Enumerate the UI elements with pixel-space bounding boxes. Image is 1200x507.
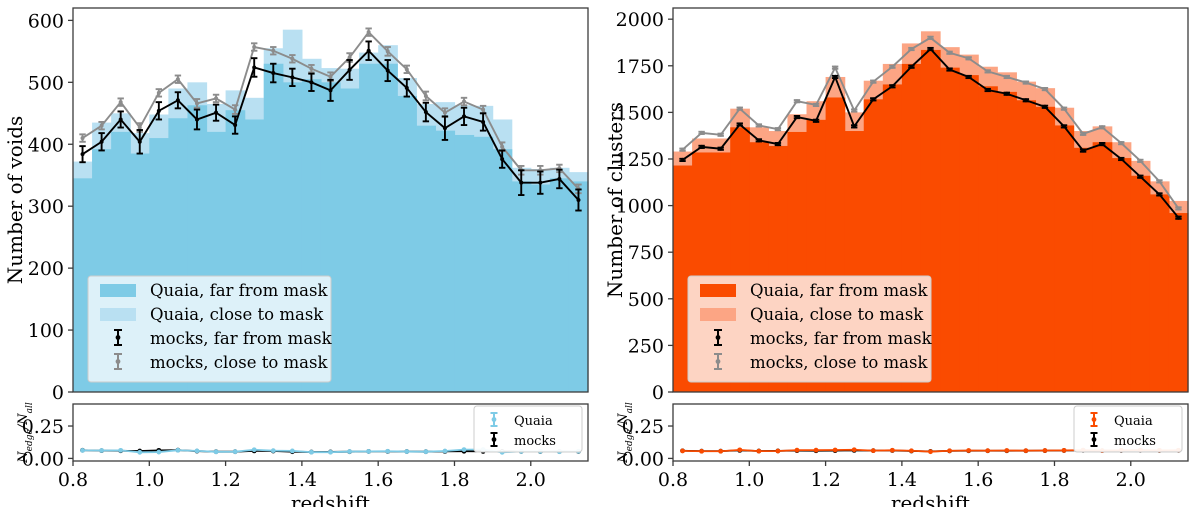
data-point bbox=[833, 66, 837, 70]
legend-label: Quaia, far from mask bbox=[150, 281, 328, 300]
data-point bbox=[1024, 98, 1028, 102]
ratio-point bbox=[1062, 448, 1067, 453]
x-tick-label: 1.6 bbox=[363, 469, 393, 491]
main-legend: Quaia, far from maskQuaia, close to mask… bbox=[688, 276, 933, 382]
data-point bbox=[852, 124, 856, 128]
data-point bbox=[909, 65, 913, 69]
ratio-point bbox=[1023, 448, 1028, 453]
clusters-svg: 025050075010001250150017502000Number of … bbox=[600, 0, 1200, 507]
ratio-point bbox=[290, 448, 295, 453]
legend-label: mocks, close to mask bbox=[150, 353, 328, 372]
data-point bbox=[233, 123, 237, 127]
ratio-legend-label: Quaia bbox=[1114, 414, 1153, 429]
data-point bbox=[119, 117, 123, 121]
bar-far-from-mask bbox=[359, 64, 379, 392]
x-tick-label: 1.0 bbox=[134, 469, 164, 491]
ratio-point bbox=[776, 449, 781, 454]
data-point bbox=[424, 94, 428, 98]
data-point bbox=[367, 49, 371, 53]
data-point bbox=[929, 47, 933, 51]
data-point bbox=[195, 101, 199, 105]
ratio-point bbox=[852, 447, 857, 452]
legend-label: Quaia, close to mask bbox=[150, 305, 324, 324]
data-point bbox=[1100, 125, 1104, 129]
legend-label: mocks, far from mask bbox=[150, 329, 333, 348]
ratio-point bbox=[928, 449, 933, 454]
ratio-point bbox=[814, 448, 819, 453]
data-point bbox=[329, 88, 333, 92]
bar-far-from-mask bbox=[1035, 107, 1055, 392]
y-tick-label: 1750 bbox=[616, 56, 664, 78]
data-point bbox=[986, 88, 990, 92]
data-point bbox=[138, 126, 142, 130]
data-point bbox=[776, 127, 780, 131]
data-point bbox=[100, 140, 104, 144]
data-point bbox=[290, 75, 294, 79]
ratio-point bbox=[966, 448, 971, 453]
data-point bbox=[681, 158, 685, 162]
data-point bbox=[1176, 206, 1180, 210]
y-tick-label: 500 bbox=[28, 72, 64, 94]
data-point bbox=[871, 97, 875, 101]
data-point bbox=[214, 96, 218, 100]
y-tick-label: 250 bbox=[628, 335, 664, 357]
y-tick-label: 750 bbox=[628, 242, 664, 264]
data-point bbox=[1043, 87, 1047, 91]
bar-far-from-mask bbox=[531, 185, 551, 392]
data-point bbox=[367, 30, 371, 34]
x-axis: 0.81.01.21.41.61.82.0 bbox=[58, 461, 546, 491]
data-point bbox=[81, 152, 85, 156]
figure-container: 0100200300400500600Number of voidsQuaia,… bbox=[0, 0, 1200, 507]
ratio-point bbox=[404, 449, 409, 454]
ratio-point bbox=[271, 448, 276, 453]
ratio-point bbox=[309, 450, 314, 455]
x-tick-label: 1.4 bbox=[287, 469, 317, 491]
data-point bbox=[986, 69, 990, 73]
data-point bbox=[1119, 141, 1123, 145]
x-axis-title: redshift bbox=[291, 491, 370, 507]
ratio-point bbox=[137, 450, 142, 455]
ratio-point bbox=[737, 447, 742, 452]
data-point bbox=[157, 109, 161, 113]
data-point bbox=[176, 77, 180, 81]
main-legend: Quaia, far from maskQuaia, close to mask… bbox=[88, 276, 333, 382]
data-point bbox=[1138, 175, 1142, 179]
data-point bbox=[138, 140, 142, 144]
ratio-point bbox=[833, 448, 838, 453]
ratio-point bbox=[795, 448, 800, 453]
bar-far-from-mask bbox=[1169, 213, 1189, 392]
data-point bbox=[576, 198, 580, 202]
bar-far-from-mask bbox=[1016, 100, 1036, 392]
ratio-legend-marker bbox=[1092, 437, 1097, 442]
data-point bbox=[462, 100, 466, 104]
data-point bbox=[1005, 75, 1009, 79]
data-point bbox=[348, 56, 352, 60]
bar-far-from-mask bbox=[397, 96, 417, 392]
data-point bbox=[948, 68, 952, 72]
data-point bbox=[386, 69, 390, 73]
legend-swatch bbox=[700, 284, 736, 297]
data-point bbox=[1081, 149, 1085, 153]
bar-far-from-mask bbox=[435, 131, 455, 392]
data-point bbox=[500, 145, 504, 149]
ratio-point bbox=[156, 450, 161, 455]
x-tick-label: 1.8 bbox=[1039, 469, 1069, 491]
ratio-point bbox=[423, 449, 428, 454]
data-point bbox=[500, 157, 504, 161]
data-point bbox=[405, 86, 409, 90]
data-point bbox=[424, 110, 428, 114]
x-tick-label: 0.8 bbox=[58, 469, 88, 491]
ratio-legend-label: mocks bbox=[1114, 434, 1156, 449]
data-point bbox=[1157, 179, 1161, 183]
bar-far-from-mask bbox=[1054, 125, 1074, 392]
bar-far-from-mask bbox=[997, 92, 1017, 392]
data-point bbox=[538, 181, 542, 185]
bar-far-from-mask bbox=[512, 181, 532, 392]
legend-swatch bbox=[100, 284, 136, 297]
panel-clusters: 025050075010001250150017502000Number of … bbox=[600, 0, 1200, 507]
data-point bbox=[795, 115, 799, 119]
data-point bbox=[1062, 124, 1066, 128]
ratio-point bbox=[756, 449, 761, 454]
ratio-point bbox=[947, 448, 952, 453]
data-point bbox=[700, 131, 704, 135]
data-point bbox=[1005, 92, 1009, 96]
ratio-legend-marker bbox=[492, 417, 497, 422]
ratio-point bbox=[328, 450, 333, 455]
y-tick-label: 400 bbox=[28, 134, 64, 156]
ratio-legend-label: Quaia bbox=[514, 414, 553, 429]
data-point bbox=[948, 51, 952, 55]
ratio-legend-label: mocks bbox=[514, 434, 556, 449]
data-point bbox=[757, 138, 761, 142]
ratio-point bbox=[99, 448, 104, 453]
legend-label: Quaia, close to mask bbox=[750, 305, 924, 324]
legend-marker bbox=[116, 359, 121, 364]
x-tick-label: 2.0 bbox=[516, 469, 546, 491]
data-point bbox=[1043, 105, 1047, 109]
ratio-point bbox=[1043, 448, 1048, 453]
data-point bbox=[233, 108, 237, 112]
ratio-point bbox=[176, 448, 181, 453]
bar-far-from-mask bbox=[1093, 142, 1113, 392]
x-tick-label: 0.8 bbox=[658, 469, 688, 491]
ratio-point bbox=[985, 448, 990, 453]
main-y-axis-title: Number of voids bbox=[3, 116, 27, 285]
data-point bbox=[81, 136, 85, 140]
data-point bbox=[852, 109, 856, 113]
y-tick-label: 100 bbox=[28, 320, 64, 342]
data-point bbox=[1100, 142, 1104, 146]
y-tick-label: 600 bbox=[28, 10, 64, 32]
main-y-axis: 0100200300400500600 bbox=[28, 10, 73, 404]
data-point bbox=[700, 145, 704, 149]
data-point bbox=[929, 36, 933, 40]
legend-marker bbox=[716, 335, 721, 340]
data-point bbox=[814, 103, 818, 107]
y-tick-label: 2000 bbox=[616, 9, 664, 31]
bar-far-from-mask bbox=[550, 178, 570, 392]
ratio-point bbox=[890, 448, 895, 453]
bar-far-from-mask bbox=[1131, 176, 1151, 392]
ratio-point bbox=[462, 447, 467, 452]
bar-far-from-mask bbox=[940, 68, 960, 392]
data-point bbox=[1138, 159, 1142, 163]
data-point bbox=[176, 98, 180, 102]
voids-svg: 0100200300400500600Number of voidsQuaia,… bbox=[0, 0, 600, 507]
data-point bbox=[967, 75, 971, 79]
ratio-point bbox=[871, 448, 876, 453]
data-point bbox=[1062, 107, 1066, 111]
data-point bbox=[252, 65, 256, 69]
legend-marker bbox=[116, 335, 121, 340]
bar-far-from-mask bbox=[1112, 158, 1132, 392]
ratio-legend: Quaiamocks bbox=[1074, 406, 1182, 452]
ratio-point bbox=[909, 448, 914, 453]
y-tick-label: 0 bbox=[652, 382, 664, 404]
data-point bbox=[271, 49, 275, 53]
ratio-legend: Quaiamocks bbox=[474, 406, 582, 452]
bar-far-from-mask bbox=[978, 86, 998, 392]
ratio-point bbox=[214, 449, 219, 454]
ratio-point bbox=[443, 449, 448, 454]
data-point bbox=[462, 114, 466, 118]
x-tick-label: 1.2 bbox=[210, 469, 240, 491]
data-point bbox=[119, 100, 123, 104]
bar-far-from-mask bbox=[1150, 194, 1170, 392]
x-tick-label: 1.8 bbox=[439, 469, 469, 491]
bar-far-from-mask bbox=[454, 135, 474, 392]
ratio-point bbox=[118, 448, 123, 453]
data-point bbox=[214, 111, 218, 115]
data-point bbox=[443, 126, 447, 130]
data-point bbox=[967, 56, 971, 60]
data-point bbox=[386, 49, 390, 53]
data-point bbox=[519, 181, 523, 185]
x-tick-label: 1.6 bbox=[963, 469, 993, 491]
data-point bbox=[557, 177, 561, 181]
ratio-point bbox=[1004, 448, 1009, 453]
y-tick-label: 500 bbox=[628, 289, 664, 311]
bar-far-from-mask bbox=[959, 75, 979, 392]
bar-far-from-mask bbox=[474, 137, 494, 392]
data-point bbox=[481, 120, 485, 124]
data-point bbox=[1081, 132, 1085, 136]
legend-label: mocks, far from mask bbox=[750, 329, 933, 348]
x-tick-label: 1.2 bbox=[810, 469, 840, 491]
data-point bbox=[738, 123, 742, 127]
ratio-point bbox=[347, 449, 352, 454]
data-point bbox=[719, 133, 723, 137]
data-point bbox=[157, 91, 161, 95]
data-point bbox=[271, 71, 275, 75]
data-point bbox=[405, 67, 409, 71]
legend-marker bbox=[716, 359, 721, 364]
data-point bbox=[309, 80, 313, 84]
x-tick-label: 1.0 bbox=[734, 469, 764, 491]
data-point bbox=[1024, 81, 1028, 85]
ratio-point bbox=[233, 449, 238, 454]
bar-far-from-mask bbox=[493, 149, 513, 392]
data-point bbox=[776, 142, 780, 146]
bar-far-from-mask bbox=[416, 126, 436, 392]
ratio-legend-marker bbox=[1092, 417, 1097, 422]
data-point bbox=[890, 65, 894, 69]
bar-far-from-mask bbox=[378, 64, 398, 392]
legend-swatch bbox=[100, 308, 136, 321]
data-point bbox=[443, 111, 447, 115]
data-point bbox=[481, 108, 485, 112]
ratio-point bbox=[699, 449, 704, 454]
legend-label: mocks, close to mask bbox=[750, 353, 928, 372]
x-tick-label: 2.0 bbox=[1116, 469, 1146, 491]
x-axis: 0.81.01.21.41.61.82.0 bbox=[658, 461, 1146, 491]
main-y-axis-title: Number of clusters bbox=[603, 102, 627, 298]
data-point bbox=[290, 57, 294, 61]
data-point bbox=[100, 124, 104, 128]
ratio-point bbox=[385, 449, 390, 454]
data-point bbox=[909, 47, 913, 51]
data-point bbox=[890, 84, 894, 88]
x-tick-label: 1.4 bbox=[887, 469, 917, 491]
data-point bbox=[814, 119, 818, 123]
data-point bbox=[1157, 192, 1161, 196]
data-point bbox=[833, 75, 837, 79]
bar-far-from-mask bbox=[340, 89, 360, 392]
data-point bbox=[1119, 157, 1123, 161]
ratio-point bbox=[366, 449, 371, 454]
data-point bbox=[871, 80, 875, 84]
ratio-point bbox=[80, 448, 85, 453]
legend-swatch bbox=[700, 308, 736, 321]
bar-far-from-mask bbox=[569, 181, 589, 392]
data-point bbox=[719, 147, 723, 151]
y-tick-label: 300 bbox=[28, 196, 64, 218]
data-point bbox=[738, 107, 742, 111]
ratio-legend-marker bbox=[492, 437, 497, 442]
data-point bbox=[252, 45, 256, 49]
bar-far-from-mask bbox=[1074, 148, 1094, 392]
ratio-point bbox=[718, 449, 723, 454]
data-point bbox=[795, 99, 799, 103]
data-point bbox=[348, 68, 352, 72]
legend-label: Quaia, far from mask bbox=[750, 281, 928, 300]
data-point bbox=[329, 75, 333, 79]
ratio-point bbox=[252, 447, 257, 452]
ratio-point bbox=[680, 448, 685, 453]
y-tick-label: 200 bbox=[28, 258, 64, 280]
panel-voids: 0100200300400500600Number of voidsQuaia,… bbox=[0, 0, 600, 507]
x-axis-title: redshift bbox=[891, 491, 970, 507]
data-point bbox=[681, 148, 685, 152]
data-point bbox=[309, 67, 313, 71]
y-tick-label: 0 bbox=[52, 382, 64, 404]
ratio-point bbox=[195, 448, 200, 453]
data-point bbox=[757, 123, 761, 127]
data-point bbox=[195, 117, 199, 121]
data-point bbox=[1176, 216, 1180, 220]
